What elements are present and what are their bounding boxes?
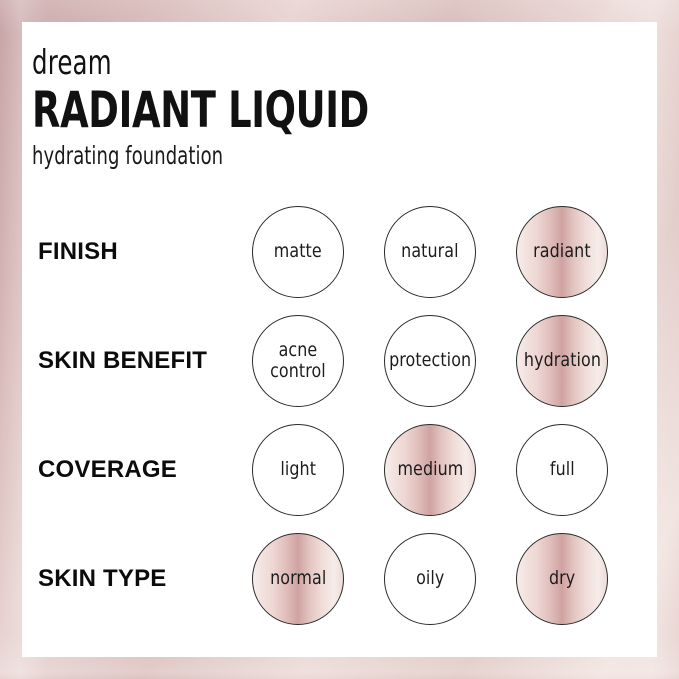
option-label: normal	[270, 568, 326, 589]
brand-eyebrow: dream	[32, 46, 408, 80]
option-label: full	[550, 459, 575, 480]
attribute-option-group: mattenaturalradiant	[250, 197, 650, 306]
product-infographic: dream RADIANT LIQUID hydrating foundatio…	[0, 0, 679, 679]
product-subtitle: hydrating foundation	[32, 143, 408, 168]
attribute-grid: FINISHmattenaturalradiantSKIN BENEFITacn…	[22, 197, 657, 633]
option-label: oily	[416, 568, 444, 589]
option-bubble[interactable]: protection	[384, 315, 476, 407]
option-bubble-selected[interactable]: dry	[516, 533, 608, 625]
attribute-row: FINISHmattenaturalradiant	[22, 197, 657, 306]
option-label: protection	[389, 350, 471, 371]
option-label: natural	[401, 241, 458, 262]
option-bubble[interactable]: oily	[384, 533, 476, 625]
attribute-option-group: lightmediumfull	[250, 415, 650, 524]
option-bubble[interactable]: full	[516, 424, 608, 516]
attribute-row-label: SKIN BENEFIT	[38, 306, 253, 415]
attribute-row: SKIN BENEFITacne controlprotectionhydrat…	[22, 306, 657, 415]
option-bubble[interactable]: acne control	[252, 315, 344, 407]
option-label: dry	[549, 568, 575, 589]
option-bubble-selected[interactable]: normal	[252, 533, 344, 625]
attribute-row: COVERAGElightmediumfull	[22, 415, 657, 524]
option-bubble[interactable]: light	[252, 424, 344, 516]
attribute-row-label: COVERAGE	[38, 415, 253, 524]
product-title: RADIANT LIQUID	[32, 85, 417, 135]
attribute-row: SKIN TYPEnormaloilydry	[22, 524, 657, 633]
option-label: radiant	[533, 241, 590, 262]
option-bubble[interactable]: matte	[252, 206, 344, 298]
white-content-card: dream RADIANT LIQUID hydrating foundatio…	[22, 22, 657, 657]
option-bubble-selected[interactable]: hydration	[516, 315, 608, 407]
option-bubble[interactable]: natural	[384, 206, 476, 298]
option-label: hydration	[523, 350, 600, 371]
option-label: light	[280, 459, 316, 480]
attribute-option-group: normaloilydry	[250, 524, 650, 633]
attribute-option-group: acne controlprotectionhydration	[250, 306, 650, 415]
option-label: acne control	[270, 340, 326, 383]
attribute-row-label: SKIN TYPE	[38, 524, 253, 633]
option-bubble-selected[interactable]: radiant	[516, 206, 608, 298]
heading-block: dream RADIANT LIQUID hydrating foundatio…	[32, 46, 502, 168]
option-label: matte	[274, 241, 322, 262]
option-bubble-selected[interactable]: medium	[384, 424, 476, 516]
attribute-row-label: FINISH	[38, 197, 253, 306]
option-label: medium	[397, 459, 463, 480]
